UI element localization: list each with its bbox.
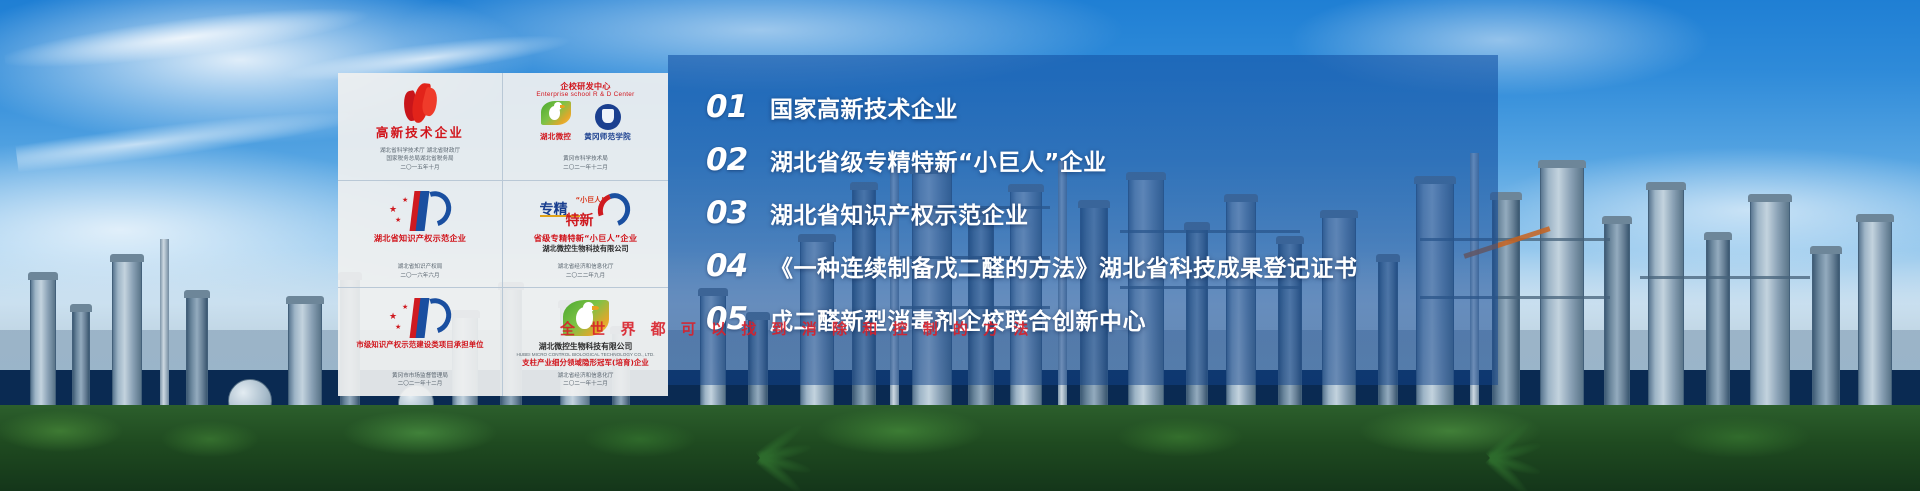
- list-item-number: 04: [706, 248, 770, 284]
- vegetation-foreground: [0, 405, 1920, 491]
- certificate-title: 省级专精特新“小巨人”企业: [534, 234, 637, 243]
- ip-star-logo: ★ ★ ★: [389, 295, 451, 341]
- list-item: 03 湖北省知识产权示范企业: [706, 195, 1498, 231]
- certificate-subtitle-en: HUBEI MICRO CONTROL BIOLOGICAL TECHNOLOG…: [516, 352, 654, 357]
- duck-leaf-icon: [541, 101, 571, 130]
- certificate-subtitle-en: Enterprise school R & D Center: [536, 91, 634, 98]
- certificate-caption: 湖北省知识产权局 二〇一六年六月: [398, 263, 443, 283]
- zhuanjing-texin-logo: 专精“小巨人” 特新: [540, 188, 632, 234]
- certificate-subtitle: 湖北微控生物科技有限公司: [542, 244, 628, 253]
- certificate-title: 市级知识产权示范建设类项目承担单位: [356, 341, 483, 350]
- list-item-label: 湖北省知识产权示范企业: [770, 196, 1029, 230]
- list-item-label: 湖北省级专精特新“小巨人”企业: [770, 143, 1107, 177]
- list-item-number: 03: [706, 195, 770, 231]
- certificate-card[interactable]: 专精“小巨人” 特新 省级专精特新“小巨人”企业 湖北微控生物科技有限公司 湖北…: [503, 181, 668, 289]
- certificate-card[interactable]: 企校研发中心 Enterprise school R & D Center 湖北…: [503, 73, 668, 181]
- ip-star-logo: ★ ★ ★: [389, 188, 451, 234]
- list-item: 01 国家高新技术企业: [706, 89, 1498, 125]
- badge-left: 湖北微控: [540, 131, 571, 142]
- university-emblem-icon: [595, 104, 621, 130]
- certificate-card[interactable]: ★ ★ ★ 湖北省知识产权示范企业 湖北省知识产权局 二〇一六年六月: [338, 181, 503, 289]
- certificate-gallery: 高新技术企业 湖北省科学技术厅 湖北省财政厅 国家税务总局湖北省税务局 二〇一五…: [338, 73, 668, 396]
- certificate-caption: 湖北省经济和信息化厅 二〇二二年九月: [558, 263, 614, 283]
- list-item-label: 国家高新技术企业: [770, 90, 958, 124]
- certificate-title: 支柱产业细分领域隐形冠军(培育)企业: [522, 359, 649, 368]
- list-item-number: 02: [706, 142, 770, 178]
- certificate-title: 湖北省知识产权示范企业: [374, 234, 466, 243]
- list-item-number: 01: [706, 89, 770, 125]
- certificate-title: 高新技术企业: [376, 126, 464, 140]
- flame-logo: [403, 80, 437, 126]
- list-item: 04 《一种连续制备戊二醛的方法》湖北省科技成果登记证书: [706, 248, 1498, 284]
- certificate-caption: 黄冈市市场监督管理局 二〇二一年十二月: [392, 372, 448, 392]
- badge-right: 黄冈师范学院: [584, 131, 631, 142]
- certificate-caption: 黄冈市科学技术局 二〇二一年十二月: [563, 155, 608, 175]
- certificate-title: 企校研发中心: [560, 82, 610, 91]
- background-slogan: 全 世 界 都 可 以 找 到 消 除 和 控 制 的 方 法: [560, 318, 1220, 344]
- certificate-caption: 湖北省经济和信息化厅 二〇二一年十二月: [558, 372, 614, 392]
- list-item: 02 湖北省级专精特新“小巨人”企业: [706, 142, 1498, 178]
- certificate-card[interactable]: 高新技术企业 湖北省科学技术厅 湖北省财政厅 国家税务总局湖北省税务局 二〇一五…: [338, 73, 503, 181]
- certificate-caption: 湖北省科学技术厅 湖北省财政厅 国家税务总局湖北省税务局 二〇一五年十月: [380, 147, 460, 176]
- list-item-label: 《一种连续制备戊二醛的方法》湖北省科技成果登记证书: [770, 249, 1358, 283]
- certificate-card[interactable]: ★ ★ ★ 市级知识产权示范建设类项目承担单位 黄冈市市场监督管理局 二〇二一年…: [338, 288, 503, 396]
